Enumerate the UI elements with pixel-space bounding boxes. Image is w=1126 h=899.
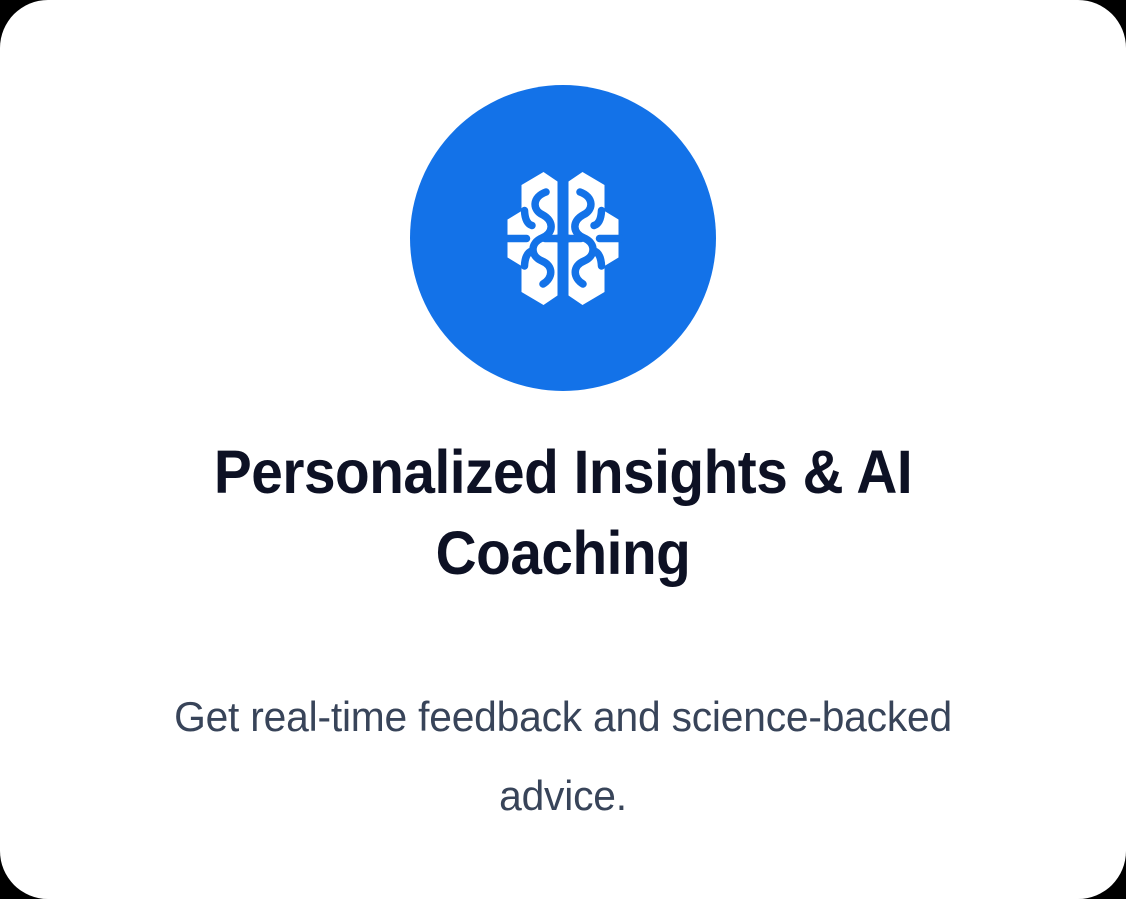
icon-badge [410,85,716,391]
title-subtitle-spacer [62,594,1064,678]
feature-card: Personalized Insights & AI Coaching Get … [0,0,1126,899]
page-title: Personalized Insights & AI Coaching [97,432,1029,594]
card-subtitle: Get real-time feedback and science-backe… [77,678,1049,836]
card-text-block: Personalized Insights & AI Coaching Get … [0,432,1126,836]
brain-icon [499,170,627,307]
